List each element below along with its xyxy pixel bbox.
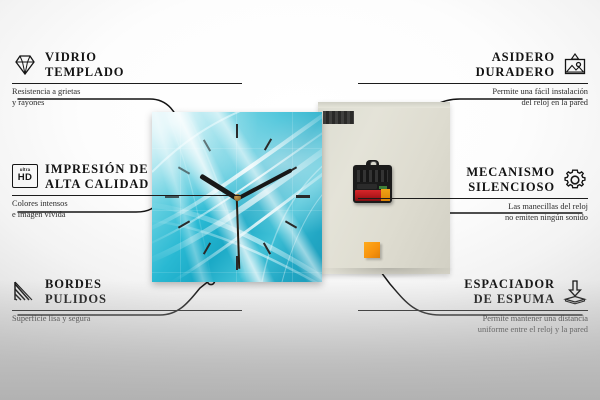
polished-edge-lines-icon [12, 279, 38, 305]
gear-icon [562, 167, 588, 193]
feature-subtitle: Superficie lisa y segura [12, 314, 242, 324]
feature-mecanismo-silencioso: MECANISMO SILENCIOSO Las manecillas del … [358, 165, 588, 223]
feature-rule [358, 310, 588, 311]
feature-rule [358, 198, 588, 199]
feature-title: ESPACIADOR DE ESPUMA [464, 277, 555, 306]
feature-title: BORDES PULIDOS [45, 277, 107, 306]
feature-title: VIDRIO TEMPLADO [45, 50, 124, 79]
feature-rule [358, 83, 588, 84]
tick-3 [296, 195, 310, 198]
feature-rule [12, 310, 242, 311]
feature-subtitle: Colores intensos e imagen vívida [12, 199, 242, 220]
feature-impresion-alta-calidad: ultra HD IMPRESIÓN DE ALTA CALIDAD Color… [12, 162, 242, 220]
diamond-icon [12, 52, 38, 78]
feature-vidrio-templado: VIDRIO TEMPLADO Resistencia a grietas y … [12, 50, 242, 108]
feature-bordes-pulidos: BORDES PULIDOS Superficie lisa y segura [12, 277, 242, 325]
tick-12 [236, 124, 238, 138]
feature-subtitle: Permite mantener una distancia uniforme … [358, 314, 588, 335]
feature-subtitle: Las manecillas del reloj no emiten ningú… [358, 202, 588, 223]
feature-title: ASIDERO DURADERO [476, 50, 555, 79]
feature-title: IMPRESIÓN DE ALTA CALIDAD [45, 162, 149, 191]
ultra-hd-badge-icon: ultra HD [12, 164, 38, 190]
feature-espaciador-de-espuma: ESPACIADOR DE ESPUMA Permite mantener un… [358, 277, 588, 335]
feature-subtitle: Permite una fácil instalación del reloj … [358, 87, 588, 108]
arrow-down-onto-pad-icon [562, 279, 588, 305]
feature-rule [12, 195, 242, 196]
feature-asidero-duradero: ASIDERO DURADERO Permite una fácil insta… [358, 50, 588, 108]
ultra-hd-large-label: HD [18, 173, 32, 183]
picture-frame-hanger-icon [562, 52, 588, 78]
feature-rule [12, 83, 242, 84]
feature-subtitle: Resistencia a grietas y rayones [12, 87, 242, 108]
infographic-canvas: VIDRIO TEMPLADO Resistencia a grietas y … [0, 0, 600, 400]
foam-spacer-pad [364, 242, 380, 258]
feature-title: MECANISMO SILENCIOSO [466, 165, 555, 194]
